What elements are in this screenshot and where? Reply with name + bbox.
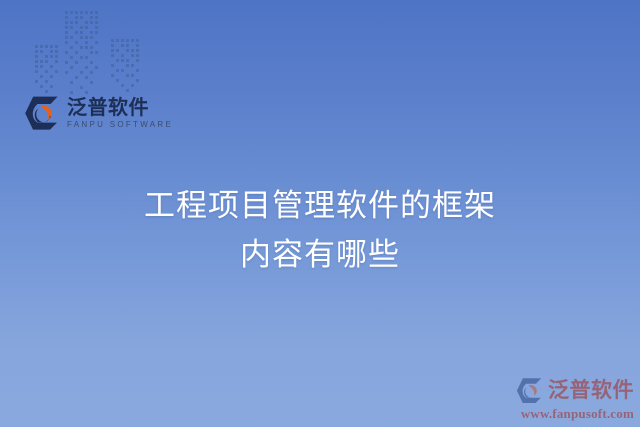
dotted-city-skyline-icon — [34, 8, 154, 96]
fanpu-hexagon-logo-icon — [24, 95, 60, 131]
page-title-line-1: 工程项目管理软件的框架 — [0, 182, 640, 231]
brand-name-cn: 泛普软件 — [67, 97, 173, 117]
page-title: 工程项目管理软件的框架 内容有哪些 — [0, 182, 640, 280]
watermark-url: www.fanpusoft.com — [484, 407, 634, 421]
watermark: 泛普软件 www.fanpusoft.com — [484, 377, 634, 421]
slide-canvas: 泛普软件 FANPU SOFTWARE 工程项目管理软件的框架 内容有哪些 泛普… — [0, 0, 640, 427]
brand-name-en: FANPU SOFTWARE — [67, 121, 173, 129]
brand-logo: 泛普软件 FANPU SOFTWARE — [24, 95, 173, 131]
watermark-name-cn: 泛普软件 — [548, 380, 634, 401]
fanpu-hexagon-logo-icon — [516, 377, 543, 404]
page-title-line-2: 内容有哪些 — [0, 231, 640, 280]
brand-wordmark: 泛普软件 FANPU SOFTWARE — [67, 97, 173, 129]
watermark-logo-row: 泛普软件 — [484, 377, 634, 404]
